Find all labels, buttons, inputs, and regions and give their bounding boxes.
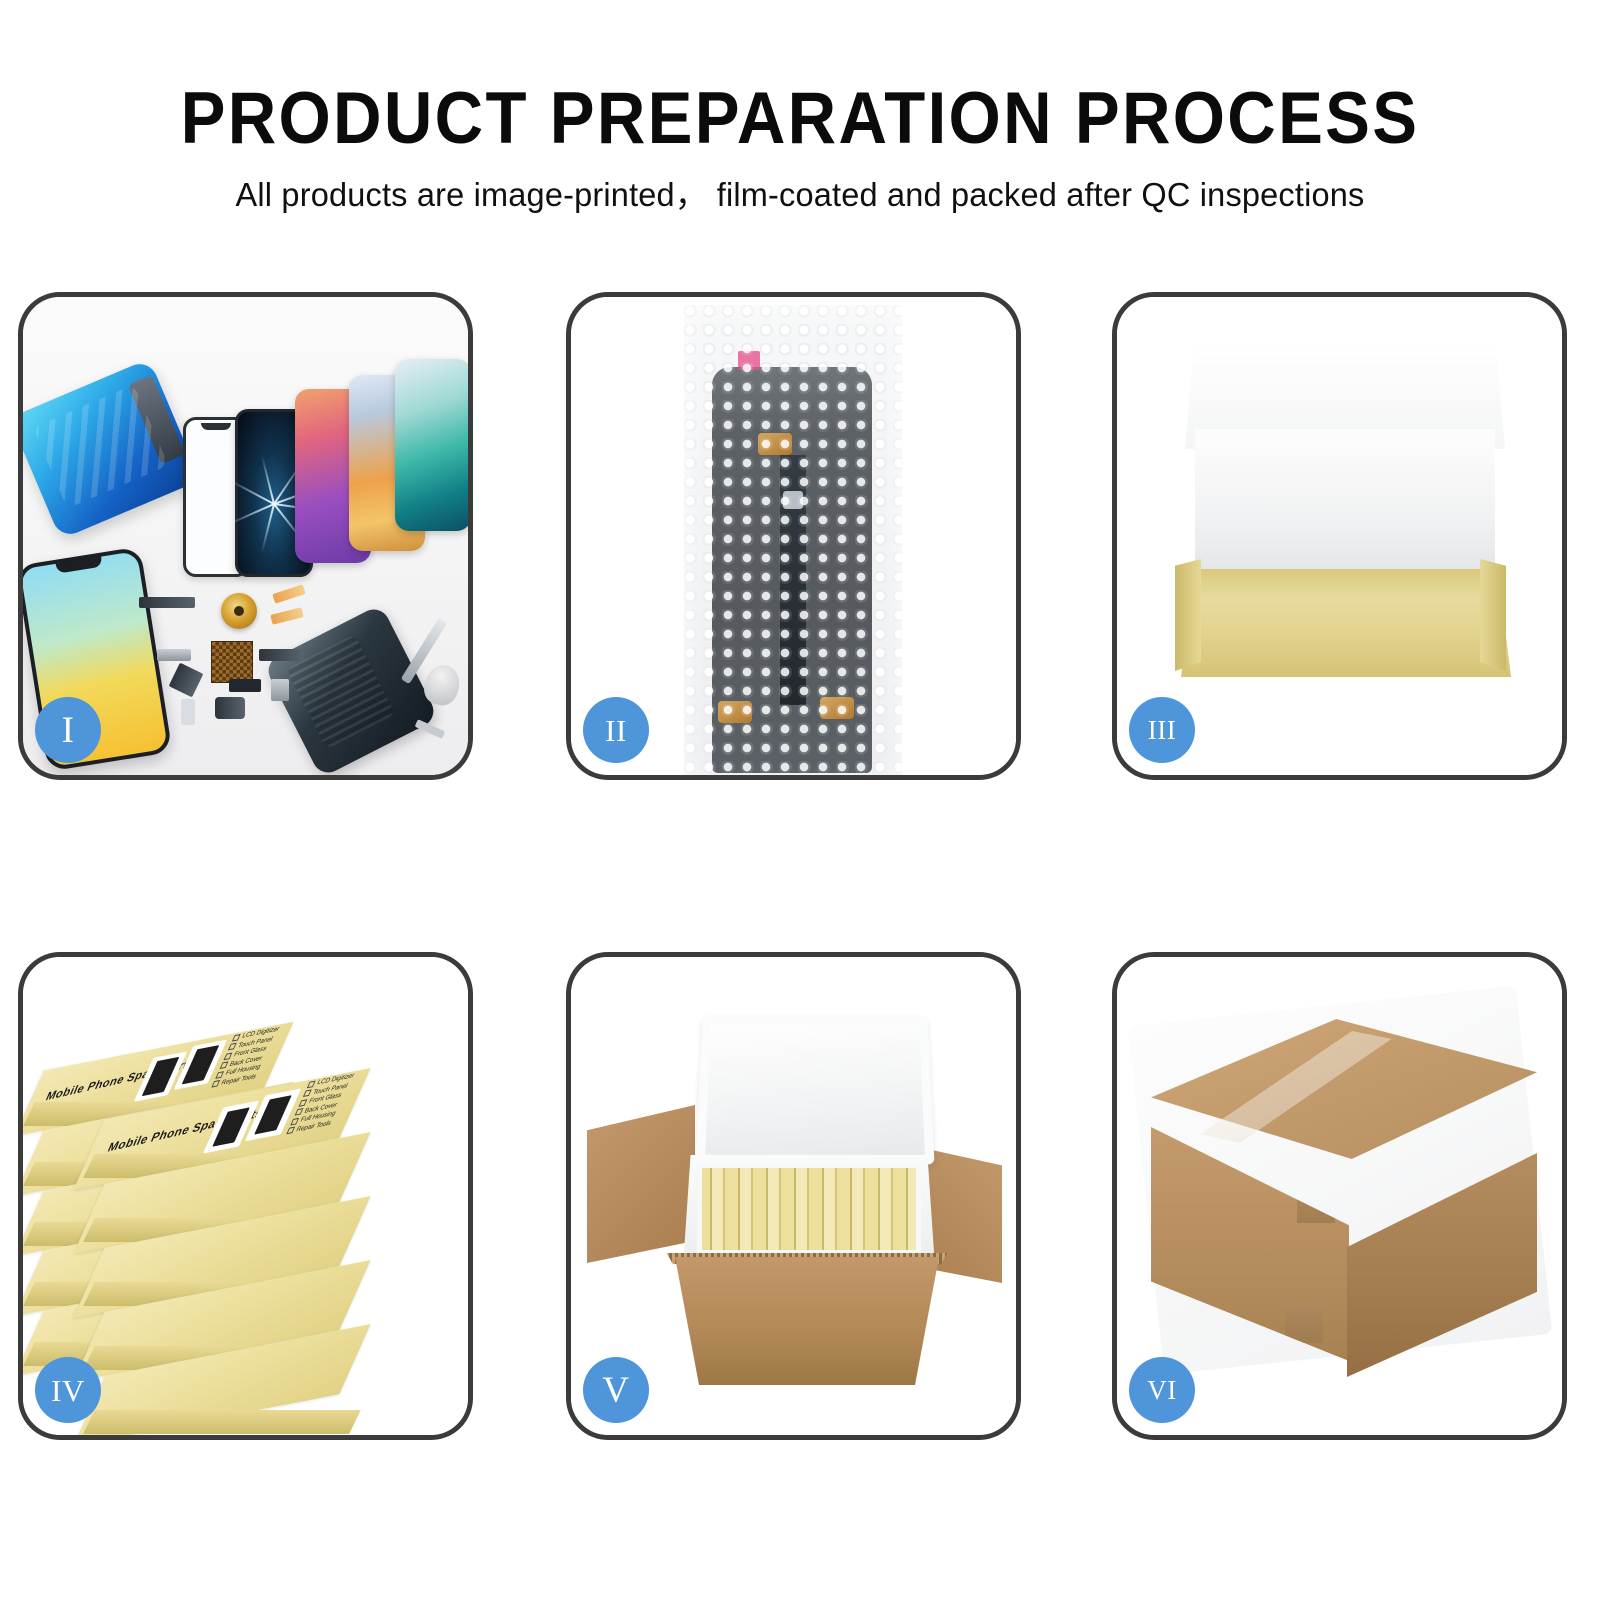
carton-body xyxy=(657,1257,957,1385)
packed-retail-boxes xyxy=(697,1163,921,1255)
box-side-left xyxy=(1175,559,1201,671)
process-step-panel-4: Mobile Phone Spare Parts LCD Digitizer T… xyxy=(18,952,473,1440)
process-step-panel-3: III xyxy=(1112,292,1567,780)
process-step-panel-1: I xyxy=(18,292,473,780)
process-step-panel-5: V xyxy=(566,952,1021,1440)
styrofoam-lid xyxy=(695,1016,934,1164)
earpiece-part xyxy=(215,697,245,719)
process-step-panel-2: II xyxy=(566,292,1021,780)
camera-module-part xyxy=(229,679,261,692)
sim-tray-part xyxy=(181,699,195,725)
step-badge-3: III xyxy=(1129,697,1195,763)
speaker-module-part xyxy=(139,597,195,608)
box-front-wall xyxy=(1181,569,1511,677)
step-2-image xyxy=(571,297,1016,775)
step-badge-2: II xyxy=(583,697,649,763)
process-step-panel-6: VI xyxy=(1112,952,1567,1440)
connector-part-2 xyxy=(259,649,303,661)
connector-part-1 xyxy=(157,649,191,661)
wireless-charging-coil xyxy=(221,593,257,629)
step-4-image: Mobile Phone Spare Parts LCD Digitizer T… xyxy=(23,957,468,1435)
process-step-grid: I II xyxy=(0,0,1600,1600)
box-inner-edge xyxy=(1181,569,1511,599)
flex-cable-part-1 xyxy=(272,584,306,603)
step-3-image xyxy=(1117,297,1562,775)
screw-part xyxy=(415,719,446,739)
bubble-wrap-bag xyxy=(684,305,902,775)
box-front-face xyxy=(83,1410,361,1434)
retail-box-r5 xyxy=(89,1353,355,1417)
bubble-texture-overlay xyxy=(684,305,902,775)
phone-display-teal xyxy=(395,359,468,531)
flex-ribbon-part xyxy=(169,663,204,698)
box-side-right xyxy=(1480,559,1506,671)
step-badge-5: V xyxy=(583,1357,649,1423)
flex-cable-part-2 xyxy=(270,607,303,624)
adhesive-frame-part xyxy=(23,359,201,540)
step-6-image xyxy=(1117,957,1562,1435)
white-foam-sheet xyxy=(1195,429,1495,577)
step-badge-4: IV xyxy=(35,1357,101,1423)
carton-tab-lower xyxy=(1285,1301,1323,1343)
step-5-image xyxy=(571,957,1016,1435)
phone-back-housing xyxy=(263,604,439,775)
ic-chip-part xyxy=(211,641,253,683)
vibration-motor-part xyxy=(271,679,289,701)
checklist-front: LCD Digitizer Touch Panel Front Glass Ba… xyxy=(285,1072,355,1137)
step-badge-1: I xyxy=(35,697,101,763)
step-badge-6: VI xyxy=(1129,1357,1195,1423)
step-1-image xyxy=(23,297,468,775)
carton-flap-left xyxy=(587,1105,695,1263)
infographic-page: PRODUCT PREPARATION PROCESS All products… xyxy=(0,0,1600,1600)
